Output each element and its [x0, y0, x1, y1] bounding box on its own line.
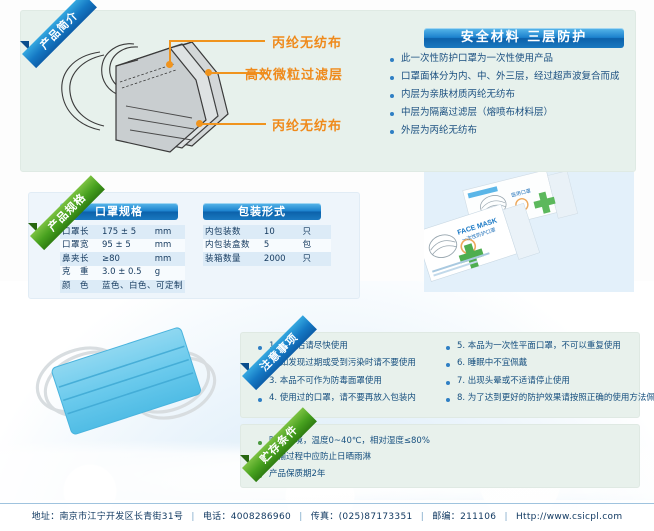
intro-section-title: 安全材料 三层防护: [424, 28, 624, 48]
list-item: 此一次性防护口罩为一次性使用产品: [390, 54, 640, 64]
footer-separator: |: [421, 512, 424, 522]
list-item: 内层为亲肤材质丙纶无纺布: [390, 90, 640, 100]
table-row: 口罩宽 95 ± 5 mm: [60, 239, 185, 253]
table-row: 鼻夹长 ≥80 mm: [60, 252, 185, 266]
blue-mask-photo: [18, 318, 233, 438]
table-row: 克 重 3.0 ± 0.5 g: [60, 266, 185, 280]
cell-label: 内包装盒数: [203, 239, 262, 253]
cell-label: 装箱数量: [203, 252, 262, 266]
list-item: 贮存环境，温度0~40℃，相对湿度≤80%: [258, 437, 588, 446]
mask-spec-table: 口罩长 175 ± 5 mm 口罩宽 95 ± 5 mm 鼻夹长 ≥80 mm …: [60, 225, 185, 293]
list-item: 产品保质期2年: [258, 470, 588, 479]
product-box-photo: 医用口罩 FACE MASK 一次性防护口罩: [424, 172, 634, 292]
cell-value: 3.0 ± 0.5: [100, 266, 153, 280]
cell-value: 蓝色、白色、可定制: [100, 280, 185, 294]
cell-unit: g: [153, 266, 185, 280]
footer-address: 地址：南京市江宁开发区长青街31号: [32, 512, 184, 522]
list-item: 3. 本品不可作为防毒面罩使用: [258, 377, 453, 386]
product-datasheet-page: 产品简介 丙纶无纺布 高效微粒过滤层: [0, 0, 654, 531]
list-item: 6. 睡眠中不宜佩戴: [446, 359, 646, 368]
cell-unit: mm: [153, 225, 185, 239]
table-row: 口罩长 175 ± 5 mm: [60, 225, 185, 239]
footer-separator: |: [299, 512, 302, 522]
footer-contact-bar: 地址：南京市江宁开发区长青街31号 | 电话：4008286960 | 传真：(…: [0, 506, 654, 528]
table-row: 内包装数 10 只: [203, 225, 331, 239]
footer-fax: 传真：(025)87173351: [311, 512, 413, 522]
cell-value: ≥80: [100, 252, 153, 266]
cell-unit: 只: [301, 252, 332, 266]
footer-phone: 电话：4008286960: [203, 512, 291, 522]
pack-spec-table-header: 包装形式: [203, 203, 321, 220]
footer-postcode: 邮编：211106: [432, 512, 496, 522]
table-row: 颜 色 蓝色、白色、可定制: [60, 280, 185, 294]
pack-spec-table: 内包装数 10 只 内包装盒数 5 包 装箱数量 2000 只: [203, 225, 331, 266]
intro-bullet-list: 此一次性防护口罩为一次性使用产品 口罩面体分为内、中、外三层，经过超声波复合而成…: [390, 54, 640, 144]
mask-illustration: [42, 22, 272, 162]
callout-label-2: 高效微粒过滤层: [245, 64, 343, 83]
footer-separator: |: [504, 512, 507, 522]
cell-value: 10: [262, 225, 301, 239]
list-item: 口罩面体分为内、中、外三层，经过超声波复合而成: [390, 72, 640, 82]
cell-value: 5: [262, 239, 301, 253]
cell-unit: mm: [153, 252, 185, 266]
cell-label: 克 重: [60, 266, 100, 280]
list-item: 7. 出现头晕或不适请停止使用: [446, 377, 646, 386]
storage-list: 贮存环境，温度0~40℃，相对湿度≤80% 运输过程中应防止日晒雨淋 产品保质期…: [258, 437, 588, 486]
list-item: 8. 为了达到更好的防护效果请按照正确的使用方法佩戴: [446, 394, 646, 403]
table-row: 内包装盒数 5 包: [203, 239, 331, 253]
footer-divider: [0, 503, 654, 504]
list-item: 2. 如发现过期或受到污染时请不要使用: [258, 359, 453, 368]
cell-label: 内包装数: [203, 225, 262, 239]
list-item: 运输过程中应防止日晒雨淋: [258, 453, 588, 462]
cell-label: 颜 色: [60, 280, 100, 294]
list-item: 4. 使用过的口罩，请不要再放入包装内: [258, 394, 453, 403]
cell-unit: 包: [301, 239, 332, 253]
cell-value: 95 ± 5: [100, 239, 153, 253]
callout-dot-outer-top: [166, 61, 173, 68]
list-item: 5. 本品为一次性平面口罩，不可以重复使用: [446, 342, 646, 351]
footer-separator: |: [191, 512, 194, 522]
callout-line-3: [199, 123, 266, 125]
cell-label: 口罩宽: [60, 239, 100, 253]
callout-dot-inner: [196, 120, 203, 127]
cell-value: 2000: [262, 252, 301, 266]
callout-label-1: 丙纶无纺布: [272, 32, 342, 51]
callout-label-3: 丙纶无纺布: [272, 115, 342, 134]
list-item: 外层为丙纶无纺布: [390, 126, 640, 136]
notes-list-right: 5. 本品为一次性平面口罩，不可以重复使用 6. 睡眠中不宜佩戴 7. 出现头晕…: [446, 342, 646, 411]
callout-stem-top: [169, 41, 171, 63]
footer-website[interactable]: Http://www.csicpl.com: [516, 512, 622, 522]
list-item: 中层为隔离过滤层（熔喷布材料层）: [390, 108, 640, 118]
callout-dot-filter: [205, 69, 212, 76]
cell-unit: 只: [301, 225, 332, 239]
cell-unit: mm: [153, 239, 185, 253]
cell-label: 鼻夹长: [60, 252, 100, 266]
callout-line-1: [169, 40, 265, 42]
table-row: 装箱数量 2000 只: [203, 252, 331, 266]
cell-value: 175 ± 5: [100, 225, 153, 239]
